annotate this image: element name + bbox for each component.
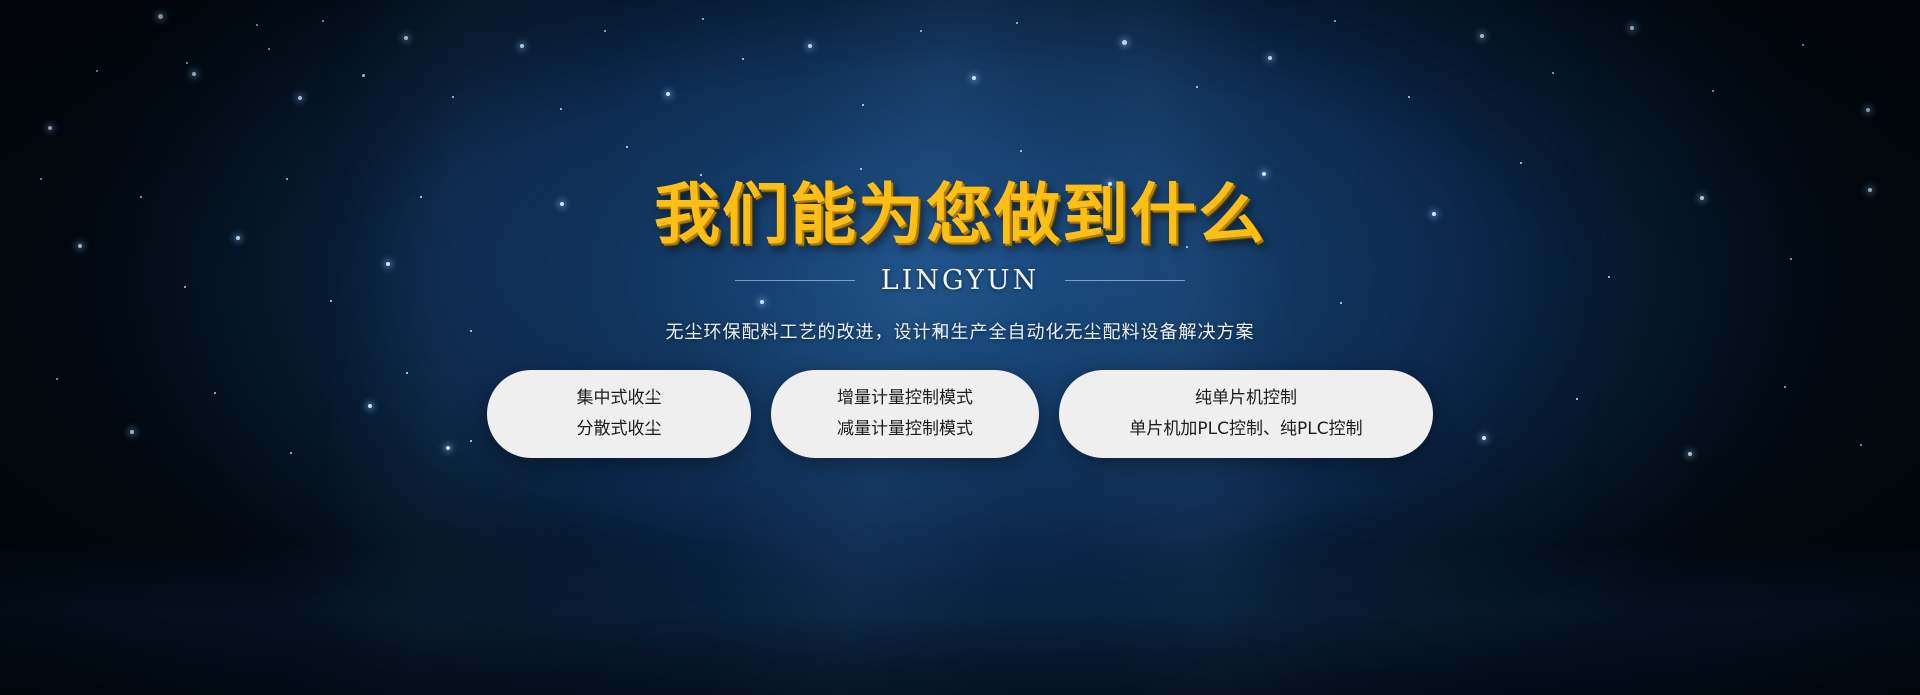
divider-right — [1065, 280, 1185, 281]
feature-card-metering-mode[interactable]: 增量计量控制模式 减量计量控制模式 — [771, 370, 1039, 458]
card-line-secondary: 单片机加PLC控制、纯PLC控制 — [1129, 420, 1362, 440]
feature-card-control-system[interactable]: 纯单片机控制 单片机加PLC控制、纯PLC控制 — [1059, 370, 1433, 458]
banner-content: 我们能为您做到什么 LINGYUN 无尘环保配料工艺的改进，设计和生产全自动化无… — [0, 0, 1920, 695]
card-line-primary: 增量计量控制模式 — [837, 389, 973, 409]
subtitle-row: LINGYUN — [735, 265, 1186, 296]
feature-card-list: 集中式收尘 分散式收尘 增量计量控制模式 减量计量控制模式 纯单片机控制 单片机… — [487, 370, 1433, 458]
brand-name-latin: LINGYUN — [881, 265, 1040, 296]
tagline-text: 无尘环保配料工艺的改进，设计和生产全自动化无尘配料设备解决方案 — [666, 318, 1255, 344]
card-line-primary: 纯单片机控制 — [1195, 389, 1297, 409]
card-line-secondary: 分散式收尘 — [577, 420, 662, 440]
card-line-primary: 集中式收尘 — [577, 389, 662, 409]
feature-card-dust-collection[interactable]: 集中式收尘 分散式收尘 — [487, 370, 751, 458]
divider-left — [735, 280, 855, 281]
hero-banner: 我们能为您做到什么 LINGYUN 无尘环保配料工艺的改进，设计和生产全自动化无… — [0, 0, 1920, 695]
headline-title: 我们能为您做到什么 — [654, 182, 1266, 248]
card-line-secondary: 减量计量控制模式 — [837, 420, 973, 440]
